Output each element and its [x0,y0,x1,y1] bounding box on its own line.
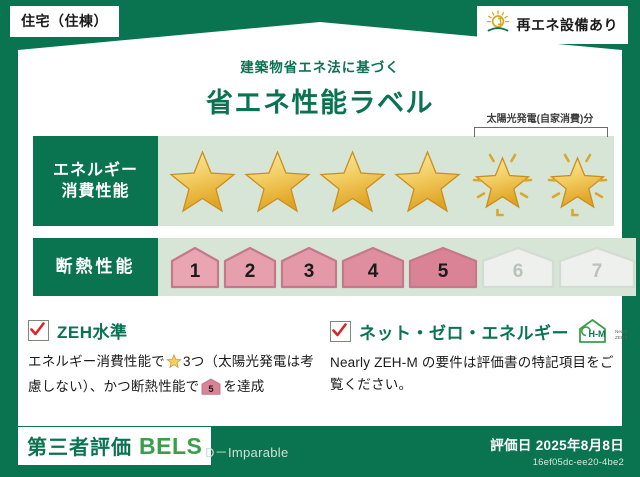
solar-sun-icon [485,10,511,39]
evaluation-info: 評価日 2025年8月8日 16ef05dc-ee20-4be2 [490,434,624,468]
zeh-description: エネルギー消費性能で3つ（太陽光発電は考慮しない）、かつ断熱性能で5を達成 [28,351,314,402]
evaluation-date: 評価日 2025年8月8日 [490,434,624,454]
check-icon [332,323,347,338]
energy-performance-label: エネルギー 消費性能 [33,136,158,226]
star-rating [166,144,614,218]
nze-description: Nearly ZEH-M の要件は評価書の特記項目をご覧ください。 [330,352,616,396]
energy-label-line2: 消費性能 [61,181,129,202]
svg-text:Nearly: Nearly [615,329,627,334]
insulation-level-value: 7 [592,261,603,289]
bels-en-label: BELS [139,433,202,460]
evaluation-date-label: 評価日 [490,438,531,453]
building-type-tag: 住宅（住棟） [10,6,119,37]
bels-badge: 第三者評価 BELS [18,427,211,465]
star-icon [241,144,314,218]
title-subtitle: 建築物省エネ法に基づく [0,56,640,76]
insulation-level-scale: 1 2 3 4 5 [170,245,636,289]
insulation-level-value: 2 [245,261,256,289]
svg-text:ZEH-M: ZEH-M [615,335,627,340]
inline-level-chip: 5 [201,378,221,402]
renewable-badge-label: 再エネ設備あり [517,15,619,35]
inline-star-icon [166,357,182,372]
check-icon [30,322,45,337]
zeh-section: ZEH水準 エネルギー消費性能で3つ（太陽光発電は考慮しない）、かつ断熱性能で5… [28,318,314,402]
insulation-performance-row: 断熱性能 1 2 3 4 [33,238,607,296]
insulation-level-chip: 3 [280,245,338,289]
star-icon-pv [466,144,539,218]
energy-performance-body: 太陽光発電(自家消費)分 [158,136,614,226]
svg-text:5: 5 [209,384,214,394]
svg-text:H-M: H-M [589,329,606,339]
renewable-equipment-badge: 再エネ設備あり [477,6,629,44]
evaluation-date-value: 2025年8月8日 [536,438,624,453]
criteria-columns: ZEH水準 エネルギー消費性能で3つ（太陽光発電は考慮しない）、かつ断熱性能で5… [28,318,616,402]
page-title: 建築物省エネ法に基づく 省エネ性能ラベル [0,56,640,120]
insulation-level-chip: 7 [558,245,636,289]
nze-section: ネット・ゼロ・エネルギー H-M Nearly ZEH-M Nearly ZEH… [330,318,616,402]
insulation-level-value: 1 [190,261,201,289]
insulation-level-chip: 5 [408,245,478,289]
insulation-level-value: 3 [304,261,315,289]
zeh-text-part1: エネルギー消費性能で [28,354,165,369]
zeh-heading: ZEH水準 [28,318,314,343]
star-icon [166,144,239,218]
insulation-performance-body: 1 2 3 4 5 [158,238,636,296]
insulation-level-chip: 2 [223,245,277,289]
insulation-label-text: 断熱性能 [56,256,136,278]
insulation-level-chip: 4 [341,245,405,289]
zehm-logo-icon: H-M Nearly ZEH-M [577,318,627,344]
insulation-performance-label: 断熱性能 [33,238,158,296]
star-icon-pv [541,144,614,218]
star-icon [391,144,464,218]
footer: 第三者評価 BELS D－Imparable 評価日 2025年8月8日 16e… [0,426,640,477]
insulation-level-value: 5 [438,261,449,289]
nze-heading: ネット・ゼロ・エネルギー H-M Nearly ZEH-M [330,318,616,344]
insulation-level-chip: 6 [481,245,555,289]
bels-jp-label: 第三者評価 [27,431,132,460]
label-background: 住宅（住棟） 再エネ設備あり 建築物省エネ法に基づく [0,0,640,477]
nze-checkbox[interactable] [330,321,351,342]
zeh-title: ZEH水準 [57,318,128,343]
insulation-level-value: 4 [368,261,379,289]
bels-code: D－Imparable [205,442,289,461]
title-main: 省エネ性能ラベル [0,81,640,120]
insulation-level-chip: 1 [170,245,220,289]
energy-performance-row: エネルギー 消費性能 [33,136,607,226]
document-id: 16ef05dc-ee20-4be2 [490,457,624,468]
zeh-checkbox[interactable] [28,320,49,341]
nze-title: ネット・ゼロ・エネルギー [359,319,569,344]
star-icon [316,144,389,218]
pv-bracket [474,127,608,137]
zeh-text-part3: を達成 [223,379,264,394]
energy-label-line1: エネルギー [53,160,138,181]
building-type-label: 住宅（住棟） [21,13,108,29]
insulation-level-value: 6 [513,261,524,289]
